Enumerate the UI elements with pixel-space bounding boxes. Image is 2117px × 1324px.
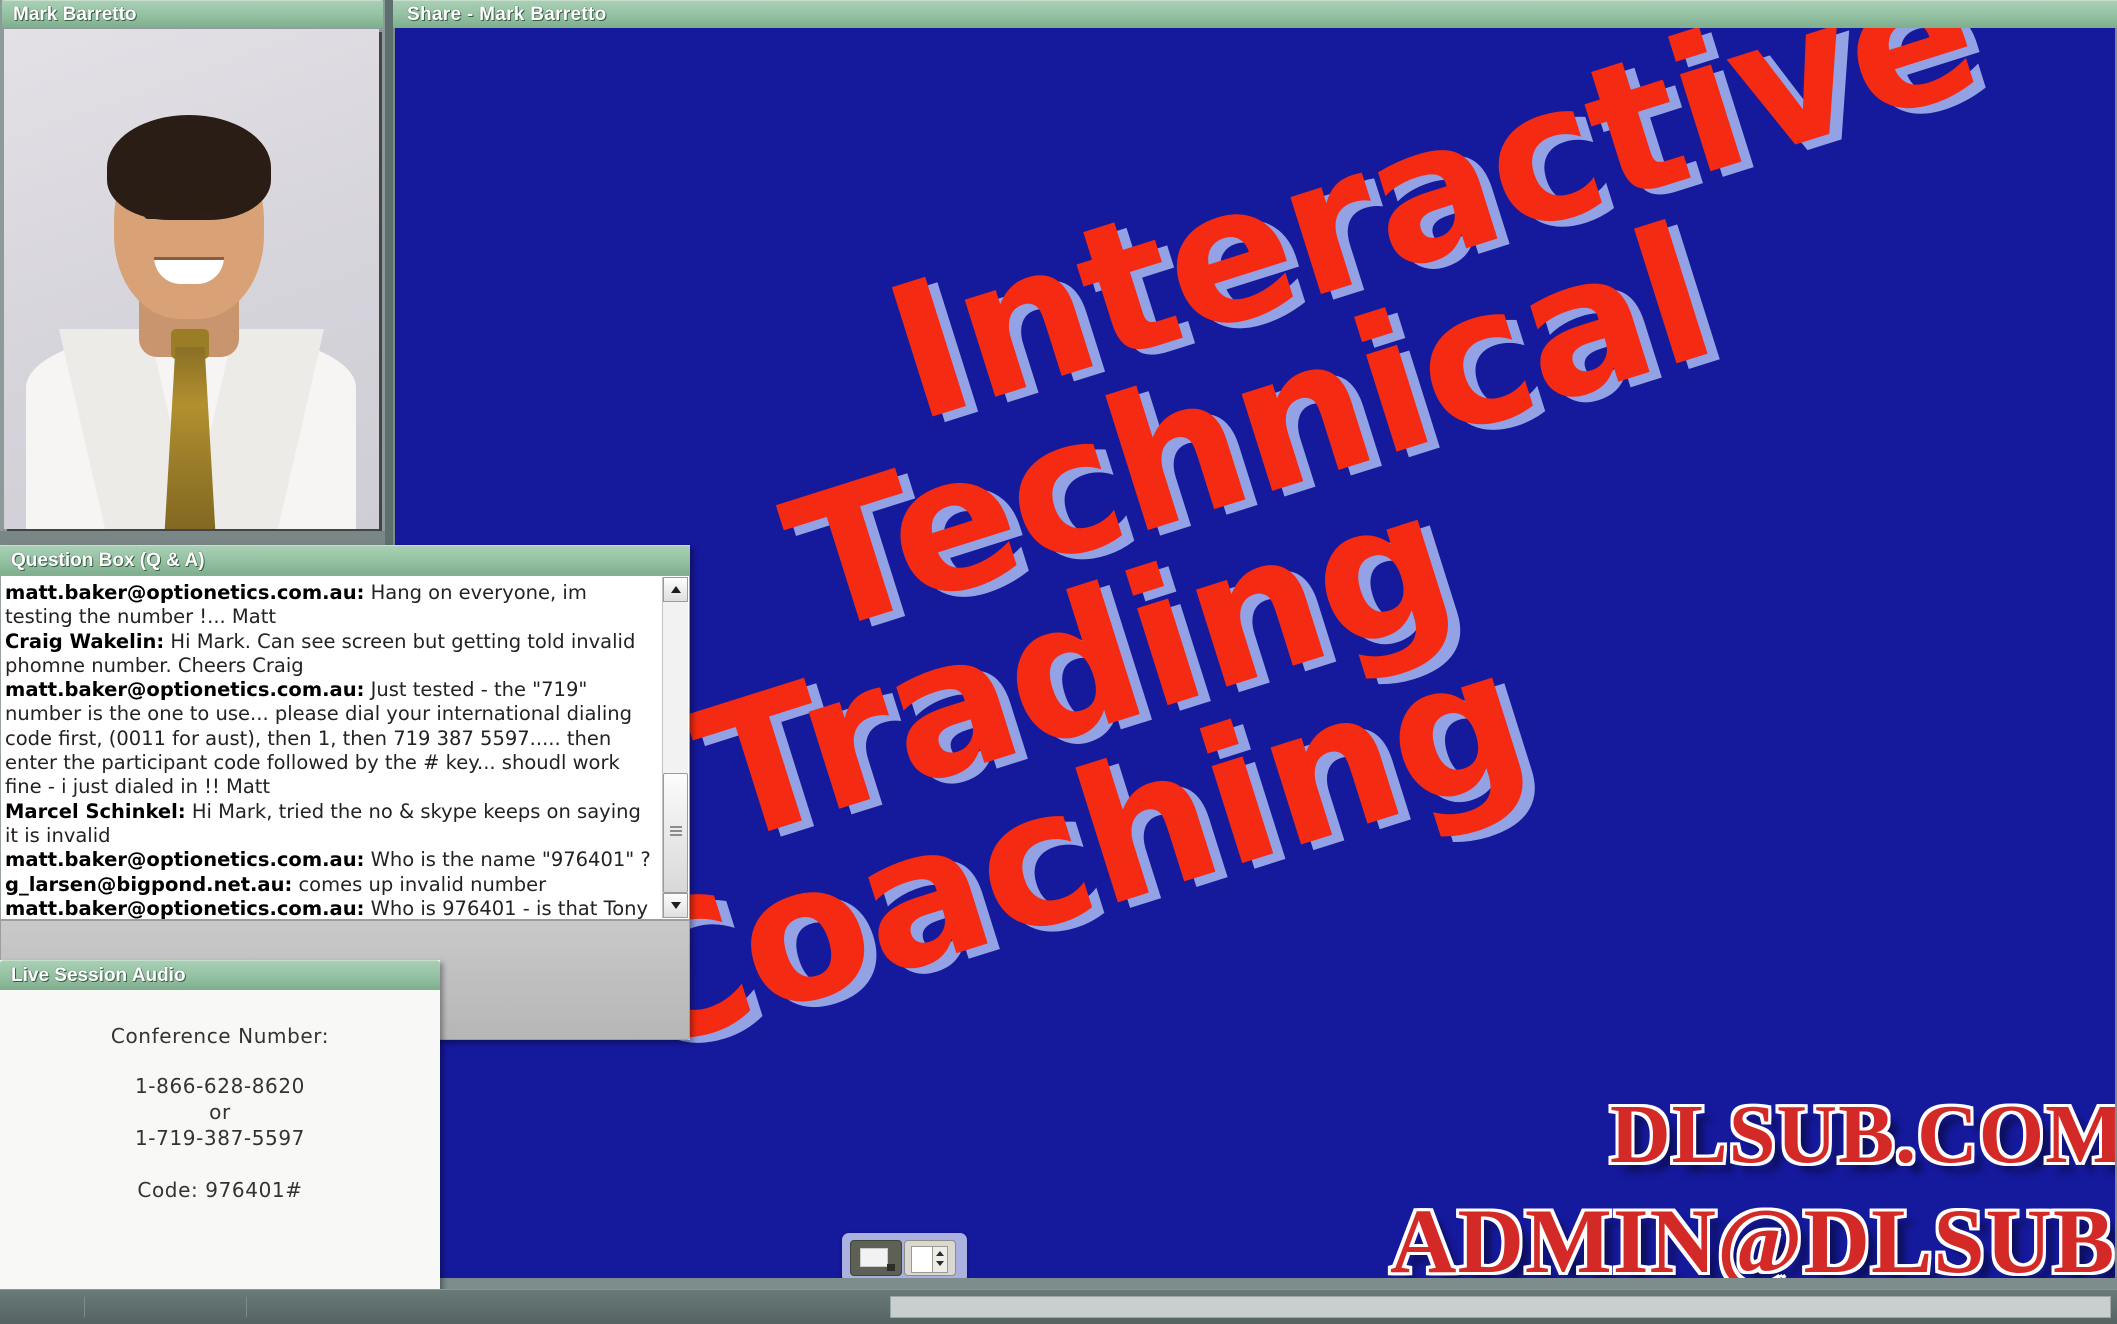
- spinner-up-icon[interactable]: [936, 1251, 944, 1256]
- page-spinner-icon[interactable]: [932, 1246, 948, 1273]
- spinner-down-icon[interactable]: [936, 1261, 944, 1266]
- qa-message: matt.baker@optionetics.com.au: Who is 97…: [5, 897, 657, 919]
- share-screen-icon[interactable]: [850, 1240, 902, 1276]
- qa-message: matt.baker@optionetics.com.au: Who is th…: [5, 848, 657, 872]
- question-box-scrollbar[interactable]: [662, 577, 688, 918]
- live-session-audio-panel: Live Session Audio Conference Number: 1-…: [0, 960, 440, 1305]
- slide-title-line-2: Technical: [771, 140, 1939, 657]
- triangle-up-icon: [671, 586, 681, 593]
- qa-message-sender: g_larsen@bigpond.net.au:: [5, 873, 292, 896]
- qa-message: matt.baker@optionetics.com.au: Just test…: [5, 678, 657, 799]
- conference-number-secondary: 1-719-387-5597: [0, 1125, 440, 1151]
- conference-number-heading: Conference Number:: [0, 1023, 440, 1049]
- presenter-floating-toolbar[interactable]: [842, 1233, 967, 1278]
- presenter-hair: [107, 115, 271, 220]
- page-icon: [911, 1246, 934, 1273]
- qa-message: Marcel Schinkel: Hi Mark, tried the no &…: [5, 800, 657, 849]
- status-bar: [0, 1289, 2117, 1324]
- scrollbar-thumb[interactable]: [663, 773, 688, 893]
- qa-message-sender: Craig Wakelin:: [5, 630, 164, 653]
- watermark-email: ADMIN@DLSUB.COM: [1390, 1188, 2115, 1278]
- question-box-message-log[interactable]: matt.baker@optionetics.com.au: Hang on e…: [1, 576, 663, 919]
- status-bar-divider-2: [246, 1297, 247, 1317]
- question-box-title: Question Box (Q & A): [11, 550, 205, 572]
- watermark-site: DLSUB.COM: [1610, 1086, 2115, 1183]
- scroll-down-button[interactable]: [663, 893, 688, 918]
- monitor-icon: [860, 1248, 888, 1267]
- audio-spacer-2: [0, 1151, 440, 1177]
- scroll-up-button[interactable]: [663, 577, 688, 602]
- scrollbar-grip-icon: [670, 826, 682, 828]
- presenter-eye-right: [196, 211, 218, 219]
- qa-message: Craig Wakelin: Hi Mark. Can see screen b…: [5, 630, 657, 679]
- conference-number-separator: or: [0, 1099, 440, 1125]
- conference-number-primary: 1-866-628-8620: [0, 1073, 440, 1099]
- status-bar-region: [890, 1296, 2111, 1318]
- webcam-titlebar[interactable]: Mark Barretto: [2, 0, 383, 28]
- presenter-eye-left: [144, 211, 166, 219]
- qa-message-sender: matt.baker@optionetics.com.au:: [5, 581, 364, 604]
- live-audio-titlebar[interactable]: Live Session Audio: [0, 960, 440, 990]
- webcam-video-feed[interactable]: [4, 29, 379, 529]
- monitor-corner-icon: [887, 1264, 895, 1271]
- qa-message-sender: Marcel Schinkel:: [5, 800, 186, 823]
- share-window-titlebar[interactable]: Share - Mark Barretto: [393, 0, 2117, 28]
- share-window-title: Share - Mark Barretto: [407, 4, 607, 26]
- live-audio-title: Live Session Audio: [11, 965, 186, 987]
- qa-message: g_larsen@bigpond.net.au: comes up invali…: [5, 873, 657, 897]
- page-selector-icon[interactable]: [904, 1240, 956, 1276]
- slide-title-line-3: Trading: [680, 305, 1991, 867]
- qa-message-sender: matt.baker@optionetics.com.au:: [5, 848, 364, 871]
- qa-message: matt.baker@optionetics.com.au: Hang on e…: [5, 581, 657, 630]
- qa-message-sender: matt.baker@optionetics.com.au:: [5, 678, 364, 701]
- slide-title-line-4: Coaching: [589, 470, 2043, 1077]
- triangle-down-icon: [671, 902, 681, 909]
- question-box-body: matt.baker@optionetics.com.au: Hang on e…: [0, 575, 690, 920]
- live-audio-body: Conference Number: 1-866-628-8620 or 1-7…: [0, 990, 440, 1305]
- slide-title-line-1: Interactive: [871, 28, 1886, 444]
- qa-message-text: comes up invalid number: [292, 873, 546, 896]
- audio-spacer-1: [0, 1049, 440, 1073]
- webcam-panel-footer: [0, 531, 385, 545]
- qa-message-text: Who is the name "976401" ?: [364, 848, 650, 871]
- question-box-titlebar[interactable]: Question Box (Q & A): [0, 545, 690, 575]
- conference-code: Code: 976401#: [0, 1177, 440, 1203]
- qa-message-sender: matt.baker@optionetics.com.au:: [5, 897, 364, 919]
- webcam-panel: Mark Barretto: [0, 0, 385, 545]
- status-bar-divider-1: [84, 1297, 85, 1317]
- webcam-title: Mark Barretto: [13, 4, 137, 26]
